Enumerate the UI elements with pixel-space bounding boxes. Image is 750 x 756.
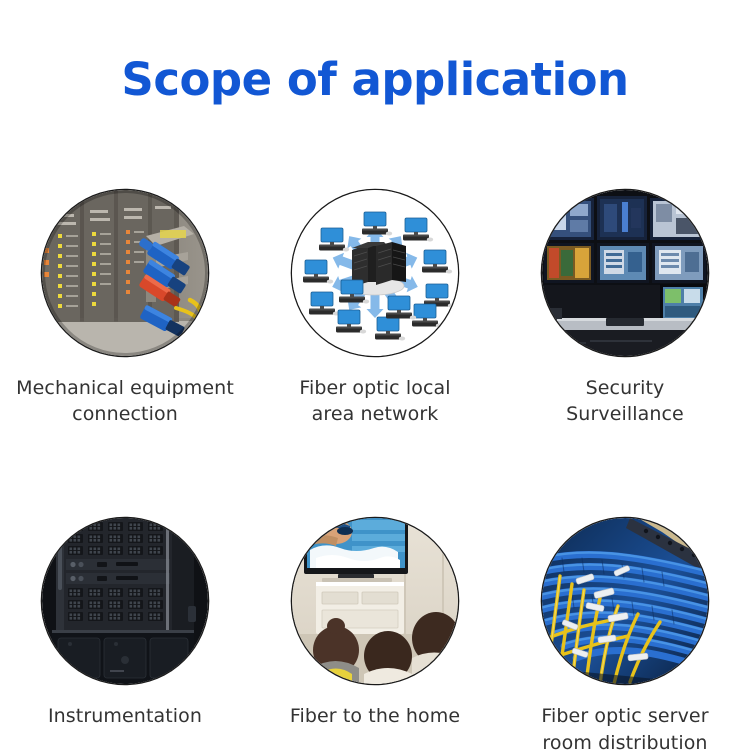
network-topology-diagram — [292, 190, 458, 356]
application-item-caption: Fiber optic local area network — [253, 375, 497, 427]
family-watching-television-photo — [292, 518, 458, 684]
application-item-security-surveillance[interactable]: Security Surveillance — [500, 190, 750, 427]
application-item-fiber-optic-server-room-distribution[interactable]: Fiber optic server room distribution — [500, 518, 750, 755]
server-room-cable-bundles-photo — [542, 518, 708, 684]
surveillance-control-room-photo — [542, 190, 708, 356]
application-item-caption: Fiber to the home — [253, 703, 497, 729]
application-row-bottom: Instrumentation — [0, 518, 750, 755]
application-item-instrumentation[interactable]: Instrumentation — [0, 518, 250, 755]
application-item-mechanical-equipment-connection[interactable]: Mechanical equipment connection — [0, 190, 250, 427]
application-item-caption: Mechanical equipment connection — [3, 375, 247, 427]
application-item-fiber-optic-local-area-network[interactable]: Fiber optic local area network — [250, 190, 500, 427]
rack-mounted-instrument-chassis-photo — [42, 518, 208, 684]
patch-panel-fiber-connectors-photo — [42, 190, 208, 356]
application-row-top: Mechanical equipment connection — [0, 190, 750, 427]
application-item-fiber-to-the-home[interactable]: Fiber to the home — [250, 518, 500, 755]
application-grid: Mechanical equipment connection — [0, 190, 750, 756]
page-title: Scope of application — [0, 55, 750, 105]
application-item-caption: Fiber optic server room distribution — [503, 703, 747, 755]
application-item-caption: Instrumentation — [3, 703, 247, 729]
application-item-caption: Security Surveillance — [503, 375, 747, 427]
scope-of-application-page: Scope of application — [0, 0, 750, 750]
